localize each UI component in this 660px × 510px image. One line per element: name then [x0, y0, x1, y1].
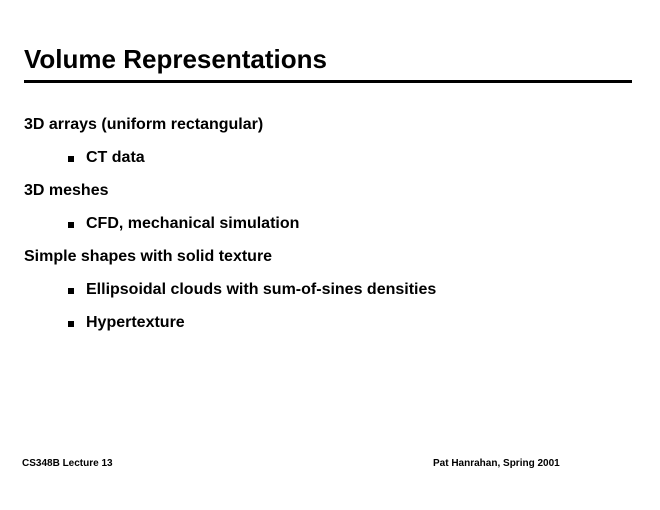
footer-right-label: Pat Hanrahan, Spring 2001 [433, 457, 560, 470]
page-title: Volume Representations [24, 44, 327, 74]
bullet-text: CFD, mechanical simulation [86, 215, 299, 232]
square-bullet-icon [68, 156, 74, 162]
bullet-text: CT data [86, 149, 145, 166]
bullet-text: Ellipsoidal clouds with sum-of-sines den… [86, 281, 436, 298]
list-item: Simple shapes with solid texture [0, 240, 660, 273]
bullet-list: 3D arrays (uniform rectangular) CT data … [0, 108, 660, 339]
list-item: CT data [0, 141, 660, 174]
bullet-text: 3D arrays (uniform rectangular) [24, 116, 263, 133]
list-item: CFD, mechanical simulation [0, 207, 660, 240]
list-item: 3D meshes [0, 174, 660, 207]
list-item: 3D arrays (uniform rectangular) [0, 108, 660, 141]
list-item: Hypertexture [0, 306, 660, 339]
square-bullet-icon [68, 222, 74, 228]
bullet-text: Simple shapes with solid texture [24, 248, 272, 265]
square-bullet-icon [68, 321, 74, 327]
list-item: Ellipsoidal clouds with sum-of-sines den… [0, 273, 660, 306]
presentation-slide: Volume Representations 3D arrays (unifor… [0, 0, 660, 510]
square-bullet-icon [68, 288, 74, 294]
footer-left-label: CS348B Lecture 13 [22, 457, 113, 470]
bullet-text: 3D meshes [24, 182, 109, 199]
title-divider [24, 80, 632, 83]
bullet-text: Hypertexture [86, 314, 185, 331]
